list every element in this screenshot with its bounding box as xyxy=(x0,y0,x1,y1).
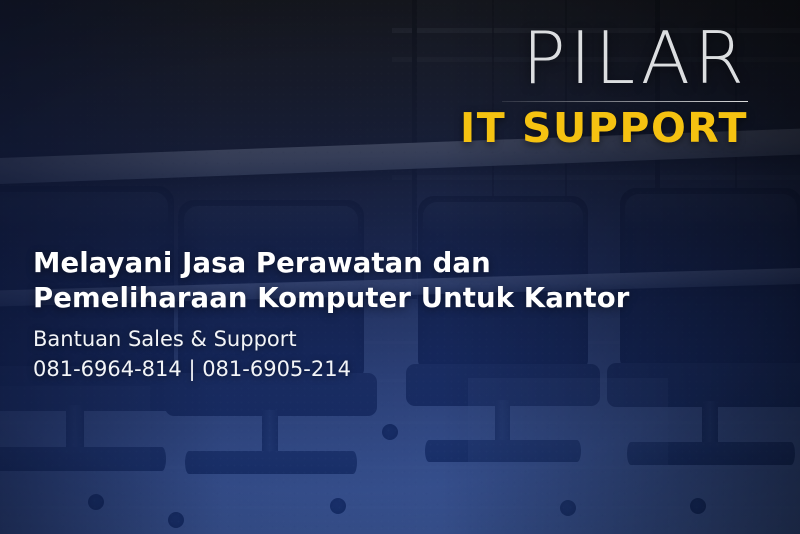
copy-block: Melayani Jasa Perawatan dan Pemeliharaan… xyxy=(33,246,629,385)
logo-tagline: IT SUPPORT xyxy=(460,108,748,149)
logo-wordmark: PILAR xyxy=(460,22,748,94)
logo-divider-rule xyxy=(502,101,748,102)
headline-line-1: Melayani Jasa Perawatan dan xyxy=(33,246,629,281)
headline-line-2: Pemeliharaan Komputer Untuk Kantor xyxy=(33,281,629,316)
support-subline: Bantuan Sales & Support xyxy=(33,325,629,355)
contact-phone-numbers: 081-6964-814 | 081-6905-214 xyxy=(33,355,629,385)
brand-logo: PILAR IT SUPPORT xyxy=(460,22,748,149)
promotional-banner: PILAR IT SUPPORT Melayani Jasa Perawatan… xyxy=(0,0,800,534)
